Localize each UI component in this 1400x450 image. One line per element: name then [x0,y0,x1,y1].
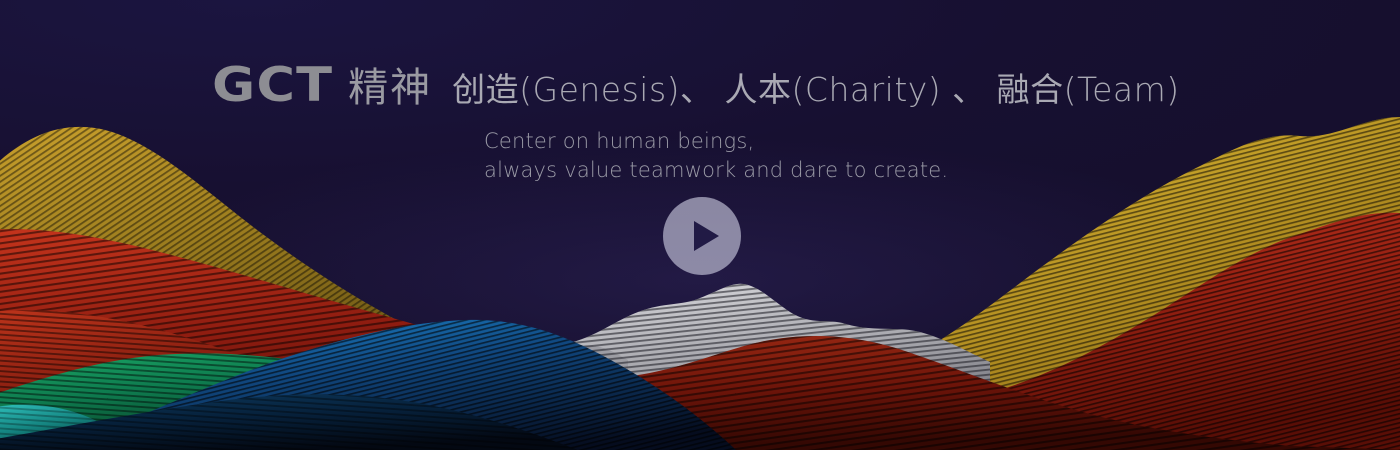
tagline-chinese: 创造(Genesis)、 人本(Charity) 、 融合(Team) [452,73,1179,106]
hero-banner: GCT 精神 创造(Genesis)、 人本(Charity) 、 融合(Tea… [0,0,1400,450]
brand-chinese-text: 精神 [348,68,432,108]
banner-copy: GCT 精神 创造(Genesis)、 人本(Charity) 、 融合(Tea… [212,62,1212,184]
play-triangle-icon [694,221,719,251]
headline-row: GCT 精神 创造(Genesis)、 人本(Charity) 、 融合(Tea… [212,62,1212,109]
play-video-button[interactable] [663,197,741,275]
subtitle-line-2: always value teamwork and dare to create… [484,156,1212,184]
subtitle-block: Center on human beings, always value tea… [484,127,1212,184]
subtitle-line-1: Center on human beings, [484,127,1212,155]
brand-logo-text: GCT [212,62,333,109]
